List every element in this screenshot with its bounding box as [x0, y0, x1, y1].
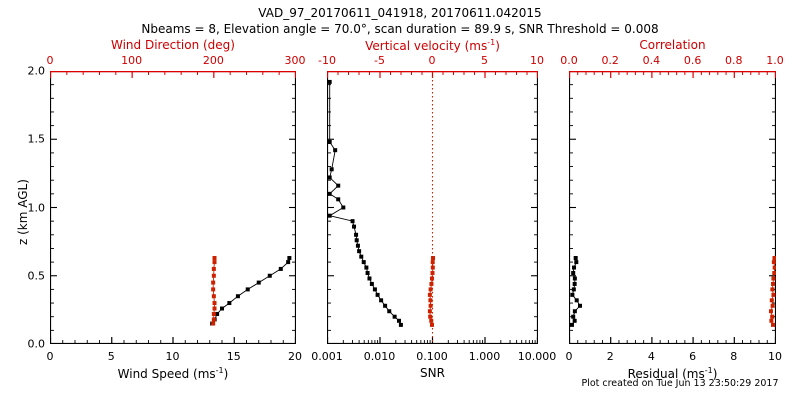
data-point	[771, 304, 775, 308]
top-tick-label: 5	[481, 54, 488, 67]
data-point	[268, 274, 272, 278]
data-point	[286, 260, 290, 264]
top-tick-label: 0.2	[601, 54, 619, 67]
series-line	[212, 258, 289, 324]
top-axis-title-residual: Correlation	[569, 38, 776, 52]
data-point	[573, 319, 577, 323]
bottom-tick-label: 10.000	[518, 350, 557, 363]
y-tick-label: 1.0	[14, 201, 45, 214]
data-point	[328, 192, 332, 196]
top-tick-label: -5	[374, 54, 385, 67]
bottom-tick-label: 1.000	[469, 350, 501, 363]
data-point	[356, 244, 360, 248]
data-point	[770, 315, 774, 319]
bottom-tick-label: 0.001	[311, 350, 343, 363]
data-point	[355, 238, 359, 242]
data-point	[279, 267, 283, 271]
top-tick-label: 100	[121, 54, 142, 67]
data-point	[212, 317, 216, 321]
plot-area-wind	[50, 71, 296, 344]
top-tick-label: 0.4	[643, 54, 661, 67]
data-point	[428, 315, 432, 319]
data-point	[328, 214, 332, 218]
data-point	[333, 148, 337, 152]
bottom-tick-label: 10	[768, 350, 782, 363]
data-point	[393, 315, 397, 319]
data-point	[429, 287, 433, 291]
data-point	[578, 304, 582, 308]
data-point	[227, 301, 231, 305]
data-point	[431, 260, 435, 264]
data-point	[212, 267, 216, 271]
data-point	[575, 298, 579, 302]
plot-area-snr	[327, 71, 538, 344]
data-point	[328, 140, 332, 144]
data-point	[429, 282, 433, 286]
bottom-tick-label: 8	[730, 350, 737, 363]
top-tick-label: 0	[47, 54, 54, 67]
top-tick-label: 0	[429, 54, 436, 67]
data-point	[330, 167, 334, 171]
bottom-tick-label: 6	[689, 350, 696, 363]
series-wind-direction	[211, 256, 216, 326]
bottom-tick-label: 4	[648, 350, 655, 363]
panel-frame	[51, 72, 296, 344]
bottom-tick-label: 0	[47, 350, 54, 363]
series-wind-speed	[210, 256, 291, 326]
data-point	[212, 274, 216, 278]
data-point	[428, 293, 432, 297]
bottom-tick-label: 0.100	[416, 350, 448, 363]
y-tick-label: 1.5	[14, 133, 45, 146]
bottom-tick-label: 0.010	[364, 350, 396, 363]
data-point	[211, 281, 215, 285]
data-point	[328, 175, 332, 179]
series-vertical-velocity	[428, 256, 435, 327]
data-point	[772, 271, 776, 275]
bottom-tick-label: 15	[227, 350, 241, 363]
data-point	[431, 271, 435, 275]
bottom-axis-title-residual: Residual (ms-1)	[569, 366, 776, 381]
bottom-tick-label: 10	[166, 350, 180, 363]
top-tick-label: 300	[285, 54, 306, 67]
data-point	[769, 319, 773, 323]
data-point	[370, 282, 374, 286]
data-point	[376, 293, 380, 297]
data-point	[387, 309, 391, 313]
data-point	[770, 287, 774, 291]
data-point	[573, 309, 577, 313]
data-point	[236, 294, 240, 298]
data-point	[772, 260, 776, 264]
panel-wind[interactable]	[50, 71, 296, 344]
data-point	[570, 293, 574, 297]
data-point	[213, 301, 217, 305]
top-tick-label: 200	[203, 54, 224, 67]
data-point	[367, 276, 371, 280]
data-point	[213, 307, 217, 311]
data-point	[428, 309, 432, 313]
data-point	[373, 287, 377, 291]
bottom-axis-title-wind: Wind Speed (ms-1)	[50, 366, 296, 381]
bottom-tick-label: 0	[566, 350, 573, 363]
data-point	[359, 255, 363, 259]
data-point	[212, 312, 216, 316]
plot-area-residual	[569, 71, 776, 344]
data-point	[573, 276, 577, 280]
data-point	[772, 256, 776, 260]
data-point	[328, 80, 332, 84]
data-point	[428, 298, 432, 302]
data-point	[572, 266, 576, 270]
data-point	[397, 319, 401, 323]
data-point	[771, 323, 775, 327]
data-point	[574, 256, 578, 260]
data-point	[354, 233, 358, 237]
data-point	[771, 282, 775, 286]
data-point	[336, 197, 340, 201]
top-tick-label: 0.6	[684, 54, 702, 67]
bottom-axis-title-snr: SNR	[327, 366, 538, 380]
data-point	[366, 271, 370, 275]
data-point	[287, 256, 291, 260]
top-tick-label: 0.8	[725, 54, 743, 67]
data-point	[573, 282, 577, 286]
data-point	[571, 315, 575, 319]
data-point	[571, 271, 575, 275]
figure-subtitle: Nbeams = 8, Elevation angle = 70.0°, sca…	[0, 22, 800, 36]
data-point	[257, 281, 261, 285]
data-point	[213, 260, 217, 264]
data-point	[351, 219, 355, 223]
panel-frame	[570, 72, 776, 344]
top-tick-label: 0.0	[560, 54, 578, 67]
data-point	[357, 249, 361, 253]
series-residual	[570, 256, 582, 327]
data-point	[572, 287, 576, 291]
top-tick-label: 10	[530, 54, 544, 67]
data-point	[399, 323, 403, 327]
series-line	[330, 82, 401, 325]
data-point	[364, 266, 368, 270]
top-tick-label: 1.0	[766, 54, 784, 67]
data-point	[431, 266, 435, 270]
data-point	[769, 309, 773, 313]
data-point	[336, 184, 340, 188]
figure-title: VAD_97_20170611_041918, 20170611.042015	[0, 6, 800, 20]
data-point	[362, 260, 366, 264]
data-point	[570, 323, 574, 327]
data-point	[429, 304, 433, 308]
data-point	[429, 319, 433, 323]
data-point	[213, 256, 217, 260]
data-point	[211, 322, 215, 326]
y-tick-label: 2.0	[14, 65, 45, 78]
bottom-tick-label: 2	[607, 350, 614, 363]
data-point	[430, 276, 434, 280]
data-point	[574, 260, 578, 264]
data-point	[211, 287, 215, 291]
bottom-tick-label: 5	[108, 350, 115, 363]
y-tick-label: 0.5	[14, 269, 45, 282]
data-point	[773, 266, 776, 270]
y-tick-label: 0.0	[14, 338, 45, 351]
data-point	[771, 293, 775, 297]
panel-residual[interactable]	[569, 71, 776, 344]
data-point	[352, 225, 356, 229]
data-point	[379, 298, 383, 302]
top-tick-label: -10	[318, 54, 336, 67]
top-axis-title-wind: Wind Direction (deg)	[50, 38, 296, 52]
series-snr	[328, 80, 403, 327]
data-point	[246, 287, 250, 291]
top-axis-title-snr: Vertical velocity (ms-1)	[327, 38, 538, 53]
panel-snr[interactable]	[327, 71, 538, 344]
data-point	[220, 307, 224, 311]
data-point	[212, 294, 216, 298]
data-point	[341, 206, 345, 210]
data-point	[431, 256, 435, 260]
data-point	[383, 304, 387, 308]
data-point	[770, 298, 774, 302]
bottom-tick-label: 20	[288, 350, 302, 363]
data-point	[771, 276, 775, 280]
data-point	[430, 323, 434, 327]
